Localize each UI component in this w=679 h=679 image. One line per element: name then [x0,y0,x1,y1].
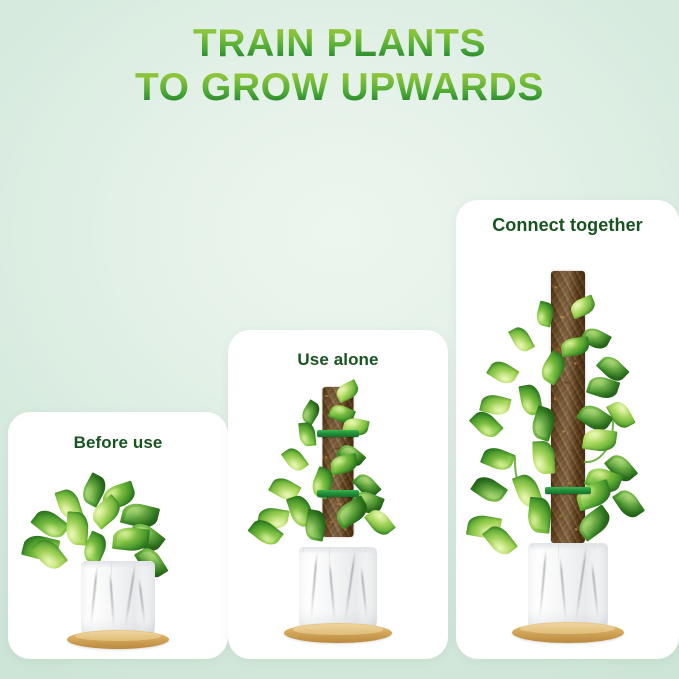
card-use-alone[interactable]: Use alone [228,330,448,659]
leaf [100,480,138,511]
leaf [364,506,396,540]
leaf [126,518,166,556]
title-line-1: TRAIN PLANTS [0,22,679,66]
title-line-2: TO GROW UPWARDS [0,66,679,110]
leaf [580,324,612,353]
leaf [479,392,512,417]
leaf [298,422,316,448]
infographic-poster: TRAIN PLANTS TO GROW UPWARDS Before use [0,0,679,679]
leaf [470,472,508,507]
leaf [586,373,621,401]
vine-tendril [584,419,614,463]
leaf [508,324,535,355]
marble-pot [81,561,155,639]
leaf [469,407,504,442]
marble-vein [90,565,98,627]
vine-tendril [514,457,548,509]
leaf [31,534,69,574]
leaf [604,450,639,486]
page-title: TRAIN PLANTS TO GROW UPWARDS [0,22,679,110]
pot-rim [81,561,155,568]
card-connect-together[interactable]: Connect together [456,200,679,659]
leaf [281,444,309,474]
moss-pole [551,271,585,543]
leaf [466,513,502,540]
plant-tie [317,490,359,497]
leaf [88,494,125,530]
plant-foliage-before-use [8,477,228,567]
pot-rim [528,543,608,550]
leaf [518,383,543,417]
leaf [54,487,83,522]
moss-pole [323,387,354,537]
plant-tie [545,487,591,494]
leaf [486,357,520,388]
leaf [112,526,150,553]
leaf [482,521,518,559]
leaf [30,505,70,543]
leaf [286,493,316,530]
leaf [247,515,284,550]
scene-use-alone [228,369,448,659]
card-label-before-use: Before use [8,433,228,453]
plant-tie [317,430,359,437]
leaf [21,532,61,563]
bamboo-saucer [512,622,624,643]
bamboo-saucer [67,630,169,649]
card-label-use-alone: Use alone [228,350,448,370]
card-before-use[interactable]: Before use [8,412,228,659]
leaf [612,486,645,522]
leaf [268,474,302,504]
leaf [596,352,630,386]
marble-pot [528,543,608,633]
bamboo-saucer [284,623,392,643]
leaf [120,500,160,531]
leaf [78,472,110,508]
marble-pot [299,547,377,633]
card-label-connect-together: Connect together [456,215,679,236]
leaf [257,506,290,531]
scene-before-use [8,479,228,659]
leaf [65,511,89,545]
pot-rim [299,547,377,554]
scene-connect-together [456,247,679,659]
leaf [480,444,516,474]
leaf [299,399,323,426]
